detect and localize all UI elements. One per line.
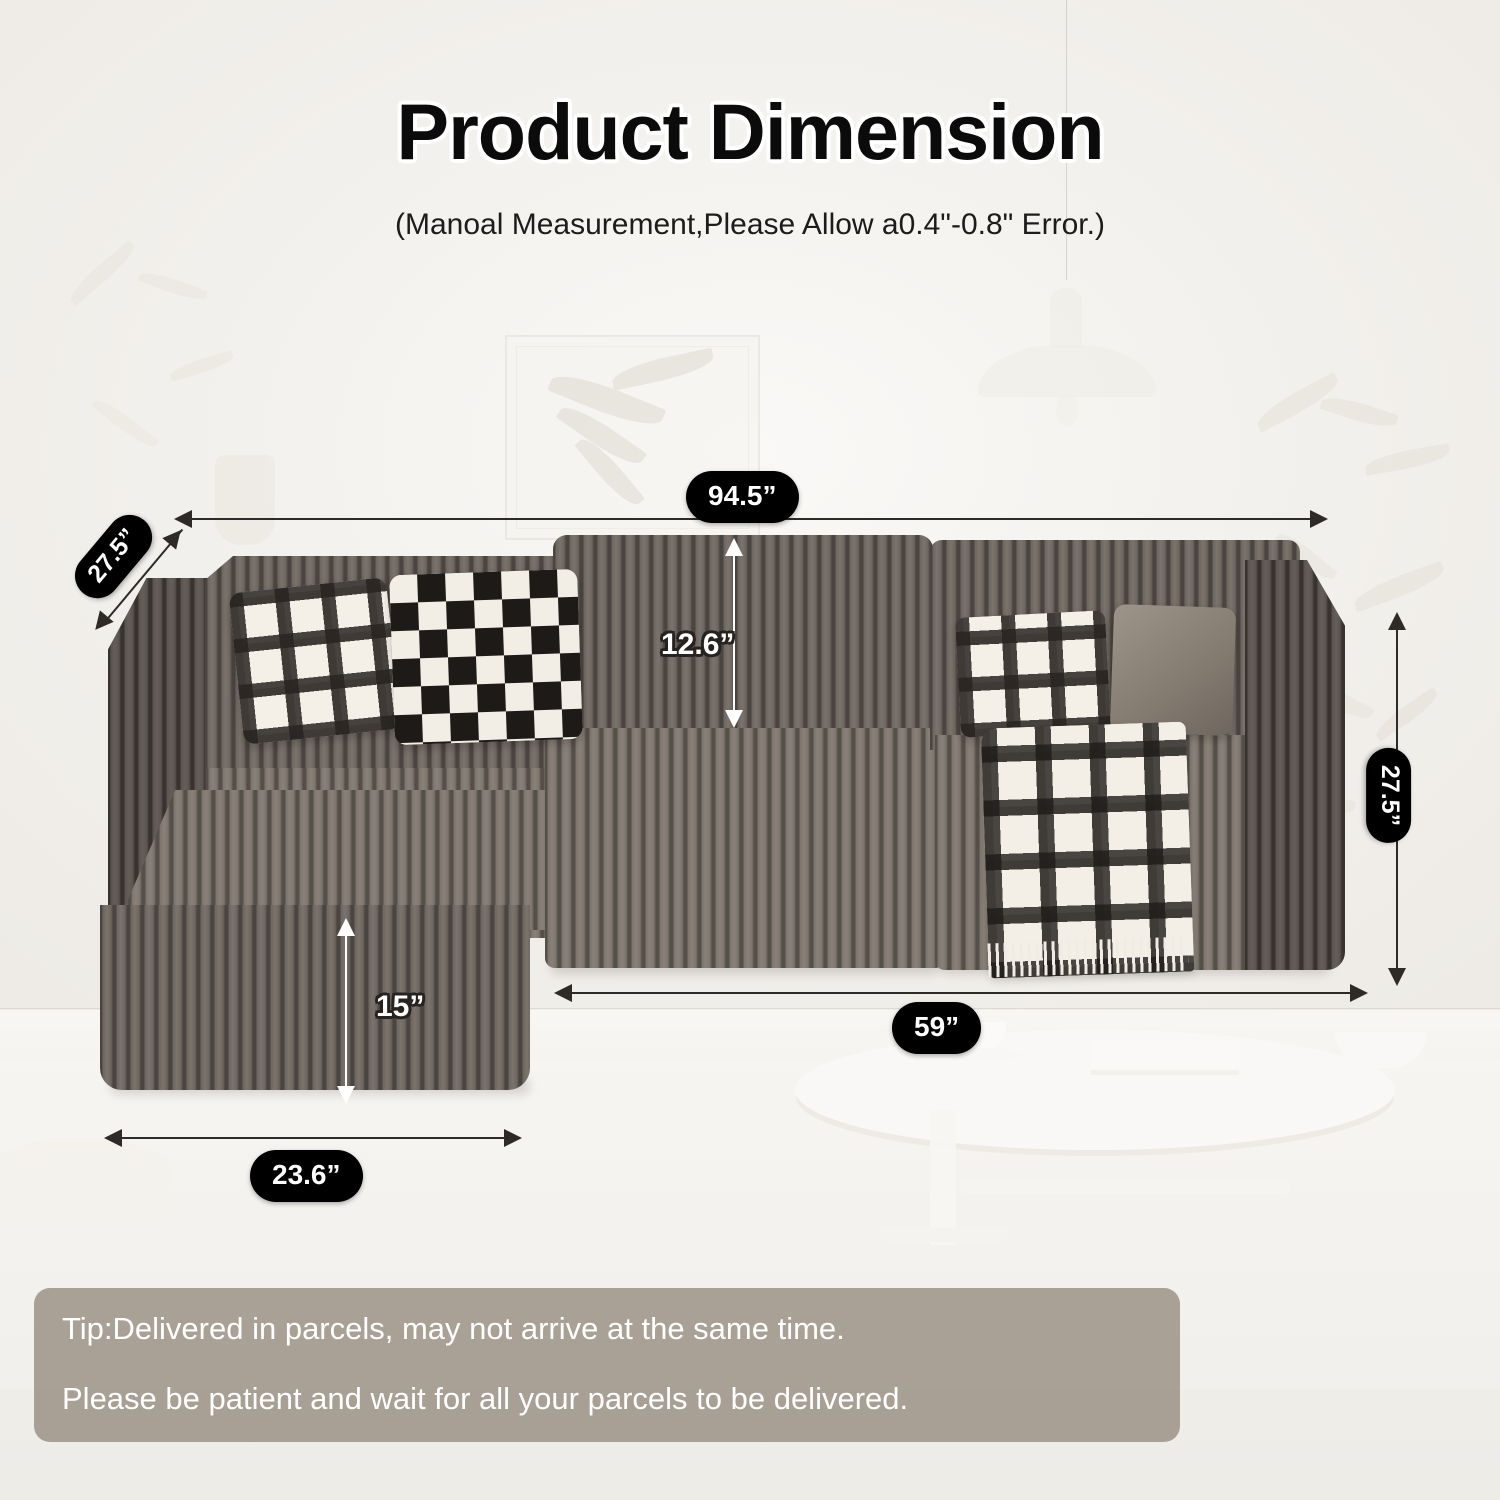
sofa-arm-right bbox=[1245, 560, 1345, 970]
dim-label-depth-right: 27.5” bbox=[1366, 748, 1411, 843]
arrow-up-backrest-height bbox=[725, 538, 743, 556]
arrow-right-overall-width bbox=[1310, 510, 1328, 528]
arrow-down-seat-height bbox=[337, 1086, 355, 1104]
plaid-pillow-2 bbox=[955, 610, 1111, 738]
arrow-right-chaise-depth bbox=[1350, 984, 1368, 1002]
tip-line-2: Please be patient and wait for all your … bbox=[62, 1383, 1152, 1414]
arrow-left-overall-width bbox=[174, 510, 192, 528]
dim-label-chaise-depth: 59” bbox=[892, 1002, 981, 1054]
sofa-chaise-front bbox=[100, 905, 530, 1090]
throw-blanket-fringe bbox=[987, 937, 1188, 978]
sectional-sofa bbox=[0, 0, 1500, 1500]
dim-label-overall-width: 94.5” bbox=[686, 471, 799, 523]
dim-label-backrest-height: 12.6” bbox=[661, 628, 734, 662]
dim-label-seat-height: 15” bbox=[376, 990, 424, 1024]
dim-label-chaise-width: 23.6” bbox=[250, 1150, 363, 1202]
tip-banner: Tip:Delivered in parcels, may not arrive… bbox=[34, 1288, 1180, 1442]
arrow-up-seat-height bbox=[337, 918, 355, 936]
plaid-pillow-1 bbox=[228, 577, 401, 745]
arrow-right-chaise-width bbox=[504, 1129, 522, 1147]
dim-line-chaise-width bbox=[120, 1137, 504, 1139]
dim-line-seat-height bbox=[345, 936, 347, 1088]
arrow-left-chaise-width bbox=[104, 1129, 122, 1147]
tan-pillow bbox=[1110, 604, 1236, 736]
sofa-backrest-center bbox=[553, 535, 933, 735]
arrow-down-depth-right bbox=[1388, 968, 1406, 986]
arrow-up-depth-right bbox=[1388, 612, 1406, 630]
tip-line-1: Tip:Delivered in parcels, may not arrive… bbox=[62, 1313, 1152, 1344]
arrow-down-backrest-height bbox=[725, 710, 743, 728]
checkered-pillow-1 bbox=[389, 569, 583, 745]
sofa-seat-center bbox=[545, 728, 945, 968]
dim-line-chaise-depth bbox=[570, 992, 1350, 994]
arrow-left-chaise-depth bbox=[554, 984, 572, 1002]
